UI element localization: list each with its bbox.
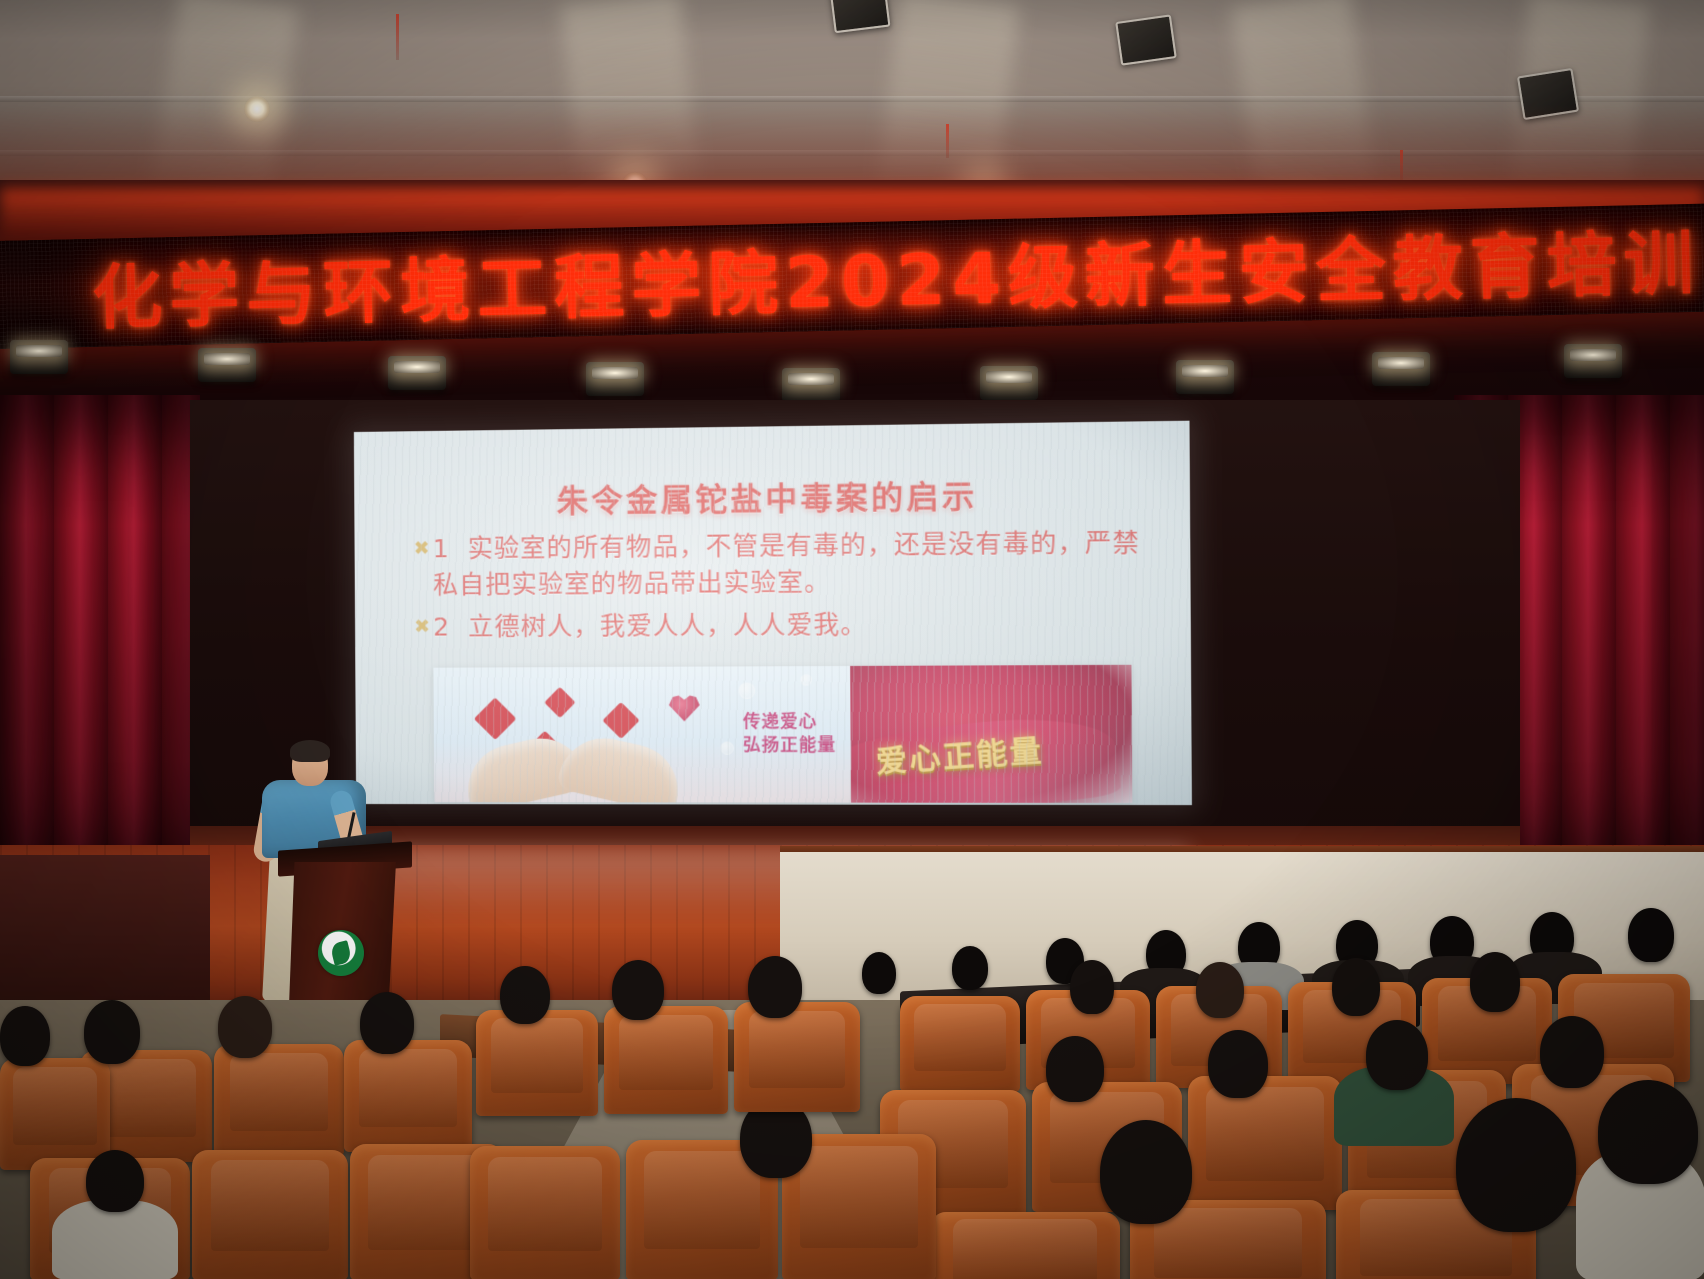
stage-truss-light bbox=[10, 340, 68, 374]
audience-head bbox=[1208, 1030, 1268, 1098]
speaker-hair bbox=[290, 740, 330, 762]
university-emblem-icon bbox=[318, 930, 364, 976]
audience-head bbox=[218, 996, 272, 1058]
poster-bubble bbox=[739, 683, 756, 699]
audience-head bbox=[1100, 1120, 1192, 1224]
poster-bubble bbox=[800, 674, 811, 685]
audience-head bbox=[86, 1150, 144, 1212]
poster-heart bbox=[474, 697, 517, 740]
audience-head bbox=[1046, 1036, 1104, 1102]
ceiling-panel bbox=[830, 0, 891, 33]
bullet-marker-icon: ✖ bbox=[411, 609, 433, 645]
audience-head bbox=[862, 952, 896, 994]
bullet-content: 实验室的所有物品，不管是有毒的，还是没有毒的，严禁私自把实验室的物品带出实验室。 bbox=[433, 528, 1140, 600]
auditorium-seat bbox=[930, 1212, 1120, 1279]
ceiling-panel bbox=[1115, 14, 1177, 65]
poster-heart bbox=[602, 702, 639, 739]
slide-bullet-text: 1 实验室的所有物品，不管是有毒的，还是没有毒的，严禁私自把实验室的物品带出实验… bbox=[433, 524, 1155, 603]
bullet-content: 立德树人，我爱人人，人人爱我。 bbox=[468, 610, 867, 642]
slide-bullet-item: ✖ 1 实验室的所有物品，不管是有毒的，还是没有毒的，严禁私自把实验室的物品带出… bbox=[411, 524, 1155, 603]
slide-poster-image: 传递爱心 弘扬正能量 爱心正能量 bbox=[433, 665, 1132, 803]
audience-head bbox=[1366, 1020, 1428, 1090]
stage-truss-light bbox=[980, 366, 1038, 400]
stage-truss-light bbox=[388, 356, 446, 390]
slide-bullet-text: 2 立德树人，我爱人人，人人爱我。 bbox=[433, 607, 867, 646]
curtain-shading bbox=[0, 395, 200, 915]
audience-head bbox=[1070, 960, 1114, 1014]
auditorium-seat bbox=[0, 1058, 110, 1170]
audience-head bbox=[952, 946, 988, 990]
auditorium-seat bbox=[900, 996, 1020, 1092]
audience-head bbox=[0, 1006, 50, 1066]
poster-hands-illustration bbox=[456, 677, 701, 803]
stage-truss-light bbox=[1176, 360, 1234, 394]
audience-head bbox=[1628, 908, 1674, 962]
auditorium-seat bbox=[604, 1006, 728, 1114]
bullet-number: 2 bbox=[433, 612, 450, 641]
audience-head bbox=[84, 1000, 140, 1064]
auditorium-seat bbox=[344, 1040, 472, 1152]
slide-title: 朱令金属铊盐中毒案的启示 bbox=[354, 468, 1190, 523]
bullet-marker-icon: ✖ bbox=[411, 531, 433, 567]
ceiling-rod bbox=[396, 14, 399, 60]
bullet-number: 1 bbox=[433, 534, 450, 563]
audience-head bbox=[1332, 958, 1380, 1016]
auditorium-photo: 化学与环境工程学院2024级新生安全教育培训 朱令金属铊盐中毒案的启示 ✖ 1 … bbox=[0, 0, 1704, 1279]
auditorium-seat bbox=[476, 1010, 598, 1116]
stage-truss-light bbox=[586, 362, 644, 396]
stage-truss-light bbox=[1564, 344, 1622, 378]
audience-head bbox=[1196, 962, 1244, 1018]
auditorium-seat bbox=[470, 1146, 620, 1279]
stage-truss-light bbox=[1372, 352, 1430, 386]
audience-head bbox=[360, 992, 414, 1054]
projection-screen: 朱令金属铊盐中毒案的启示 ✖ 1 实验室的所有物品，不管是有毒的，还是没有毒的，… bbox=[354, 421, 1192, 805]
auditorium-seat bbox=[214, 1044, 344, 1156]
audience-head bbox=[1540, 1016, 1604, 1088]
poster-bubble bbox=[720, 742, 733, 755]
slide-bullet-list: ✖ 1 实验室的所有物品，不管是有毒的，还是没有毒的，严禁私自把实验室的物品带出… bbox=[411, 524, 1155, 651]
audience-head bbox=[1598, 1080, 1698, 1184]
poster-slogan-line2: 弘扬正能量 bbox=[743, 734, 836, 757]
stage-truss-light bbox=[782, 368, 840, 402]
auditorium-seat bbox=[192, 1150, 348, 1279]
slide-bullet-item: ✖ 2 立德树人，我爱人人，人人爱我。 bbox=[411, 605, 1155, 646]
audience-head bbox=[1456, 1098, 1576, 1232]
poster-slogan: 传递爱心 弘扬正能量 bbox=[743, 711, 836, 758]
audience-head bbox=[612, 960, 664, 1020]
audience-head bbox=[500, 966, 550, 1024]
poster-slogan-line1: 传递爱心 bbox=[743, 711, 836, 735]
auditorium-seat bbox=[734, 1002, 860, 1112]
poster-right-panel: 爱心正能量 bbox=[850, 665, 1132, 803]
audience-head bbox=[748, 956, 802, 1018]
auditorium-seat bbox=[1188, 1076, 1342, 1210]
stage-truss-light bbox=[198, 348, 256, 382]
poster-heart bbox=[544, 687, 576, 718]
stage-curtain-left bbox=[0, 395, 200, 915]
poster-hand bbox=[556, 729, 687, 803]
audience-head bbox=[1470, 952, 1520, 1012]
